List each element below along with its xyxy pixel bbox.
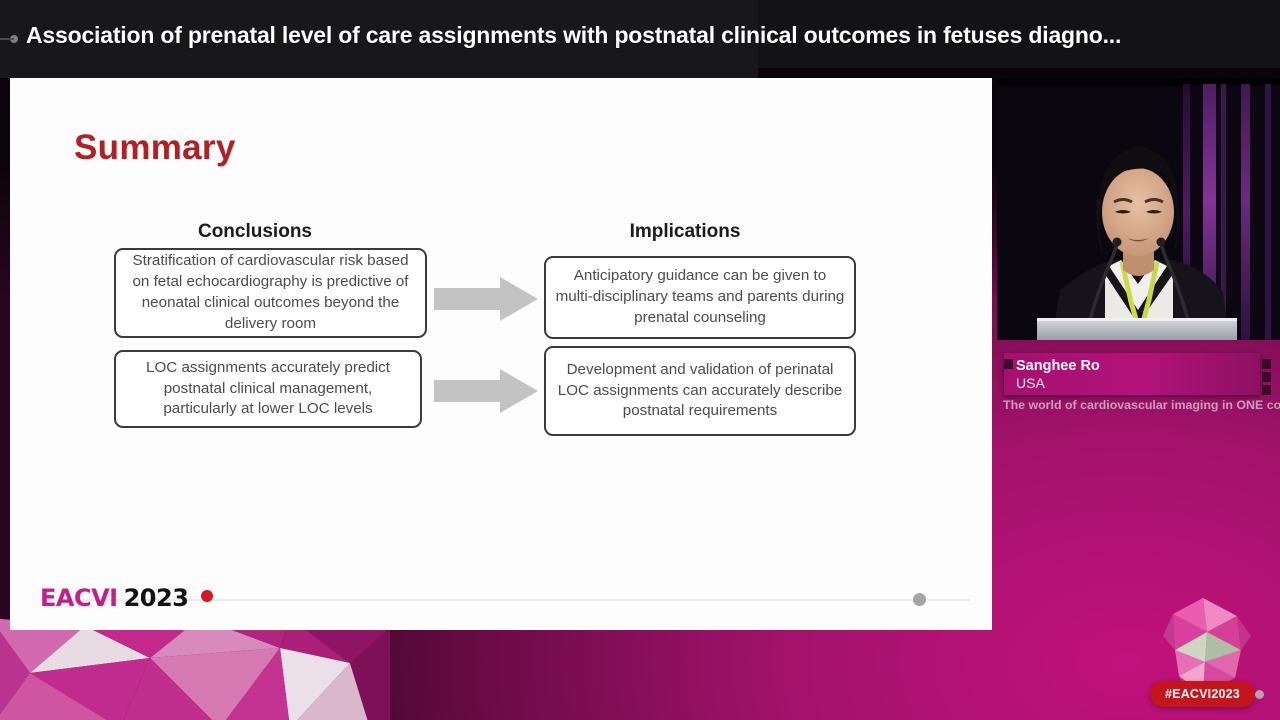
- speaker-video-frame: [997, 78, 1280, 340]
- eacvi-logo-year: 2023: [124, 584, 189, 612]
- conclusion-box-1: Stratification of cardiovascular risk ba…: [114, 248, 427, 338]
- congress-tagline: The world of cardiovascular imaging in O…: [1003, 398, 1280, 412]
- hashtag-label: #EACVI2023: [1165, 687, 1240, 701]
- right-arrow-icon: [434, 368, 539, 414]
- low-poly-facets-icon: [0, 618, 390, 720]
- column-header-conclusions: Conclusions: [105, 221, 405, 243]
- grey-dot-icon: [1255, 690, 1264, 699]
- hashtag-badge[interactable]: #EACVI2023: [1150, 681, 1255, 707]
- slide-title: Summary: [74, 128, 236, 168]
- plate-notch-right-3: [1262, 385, 1271, 395]
- speaker-video[interactable]: [997, 78, 1280, 340]
- plate-notch-right-2: [1262, 372, 1271, 382]
- implication-box-1: Anticipatory guidance can be given to mu…: [544, 256, 856, 339]
- eacvi-logo-mark: EACVI: [40, 584, 118, 612]
- titlebar-dot-tail: [0, 38, 14, 40]
- red-dot-icon: [201, 590, 213, 602]
- speaker-name: Sanghee Ro: [1016, 358, 1100, 374]
- slide-panel[interactable]: Summary Conclusions Implications Stratif…: [10, 78, 992, 630]
- eacvi-logo: EACVI 2023: [40, 584, 213, 612]
- implication-box-2: Development and validation of perinatal …: [544, 346, 856, 436]
- speaker-country: USA: [1016, 375, 1045, 391]
- page-title: Association of prenatal level of care as…: [26, 22, 1274, 49]
- conclusion-box-2: LOC assignments accurately predict postn…: [114, 350, 422, 428]
- column-header-implications: Implications: [535, 221, 835, 243]
- slide-progress-dot-icon: [913, 593, 926, 606]
- right-arrow-icon: [434, 276, 539, 322]
- plate-notch-left: [1004, 359, 1013, 369]
- plate-notch-right-1: [1262, 359, 1271, 369]
